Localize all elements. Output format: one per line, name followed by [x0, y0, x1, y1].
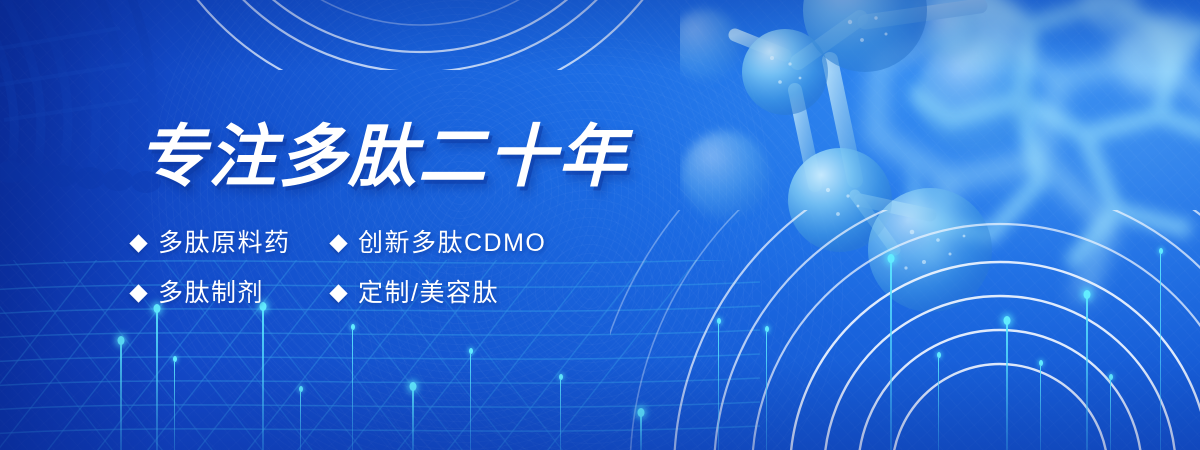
feature-label: 多肽原料药 — [158, 228, 291, 258]
feature-row: 多肽制剂 定制/美容肽 — [132, 268, 652, 318]
diamond-bullet-icon — [329, 234, 347, 252]
diamond-bullet-icon — [129, 284, 147, 302]
feature-row: 多肽原料药 创新多肽CDMO — [132, 218, 652, 268]
peptide-hero-banner: 专注多肽二十年 多肽原料药 创新多肽CDMO 多肽制剂 — [0, 0, 1200, 450]
diamond-bullet-icon — [129, 234, 147, 252]
feature-item[interactable]: 定制/美容肽 — [332, 278, 499, 308]
feature-label: 定制/美容肽 — [358, 278, 499, 308]
feature-list: 多肽原料药 创新多肽CDMO 多肽制剂 定制/美容肽 — [132, 218, 652, 318]
banner-content: 专注多肽二十年 多肽原料药 创新多肽CDMO 多肽制剂 — [0, 0, 700, 450]
feature-item[interactable]: 创新多肽CDMO — [332, 228, 546, 258]
diamond-bullet-icon — [329, 284, 347, 302]
feature-item[interactable]: 多肽原料药 — [132, 228, 332, 258]
banner-title: 专注多肽二十年 — [138, 118, 628, 196]
feature-label: 创新多肽CDMO — [358, 228, 546, 258]
feature-label: 多肽制剂 — [158, 278, 264, 308]
feature-item[interactable]: 多肽制剂 — [132, 278, 332, 308]
